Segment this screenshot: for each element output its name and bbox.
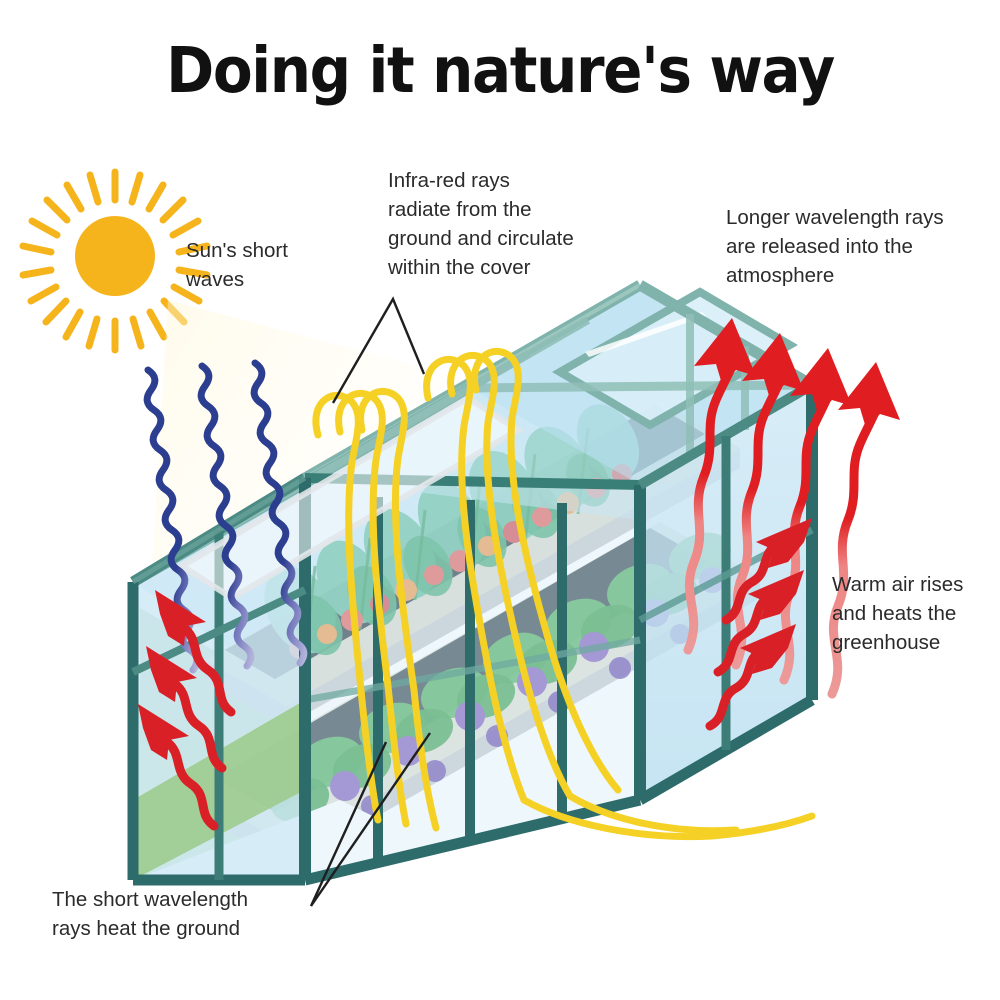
- rear-wall-glass: [133, 285, 812, 700]
- warm-air-arrowheads-left: [138, 590, 206, 760]
- warm-air-arrowheads-right: [740, 518, 812, 674]
- callout-longer-wavelength: Longer wavelength rays are released into…: [726, 203, 944, 290]
- fruit-cluster: [289, 464, 632, 659]
- roof-right-slope-far: [305, 388, 640, 520]
- pointer-ground-b: [311, 733, 430, 906]
- escaping-longwave-arrowheads: [694, 318, 900, 428]
- short-wavelength-rays: [147, 363, 304, 670]
- pointer-ground-a: [311, 742, 386, 906]
- pointer-infrared: [333, 299, 424, 403]
- sun-beam-wash: [150, 300, 470, 790]
- page-title: Doing it nature's way: [40, 34, 960, 107]
- lower-plant-row: [265, 524, 738, 830]
- pointer-lines: [311, 299, 430, 906]
- roof-right-slope: [470, 285, 812, 485]
- upper-plant-row: [250, 394, 651, 666]
- open-roof-pane: [182, 398, 518, 598]
- infrared-circulating-rays: [316, 351, 812, 836]
- left-gable-ground-band: [133, 700, 305, 880]
- warm-air-arrows-left: [167, 628, 231, 826]
- infographic-canvas: Doing it nature's way: [0, 0, 1000, 1000]
- roof-left-slope: [133, 285, 640, 582]
- sun-icon: [23, 172, 207, 350]
- warm-air-arrows-right: [710, 544, 778, 726]
- left-gable-glass: [133, 478, 305, 880]
- interior-scene: [133, 394, 760, 880]
- callout-warm-air-rises: Warm air rises and heats the greenhouse: [832, 570, 963, 657]
- front-wall-glass: [305, 478, 640, 880]
- purple-flowers: [330, 567, 725, 801]
- greenhouse: [133, 285, 812, 880]
- callout-sun-short-waves: Sun's short waves: [186, 236, 288, 294]
- callout-short-wavelength-ground: The short wavelength rays heat the groun…: [52, 885, 248, 943]
- greenhouse-scene: [0, 0, 1000, 1000]
- right-end-glass: [640, 385, 812, 800]
- greenhouse-frame: [133, 285, 812, 880]
- roof-vent-window: [560, 292, 790, 425]
- callout-infrared-rays: Infra-red rays radiate from the ground a…: [388, 166, 574, 282]
